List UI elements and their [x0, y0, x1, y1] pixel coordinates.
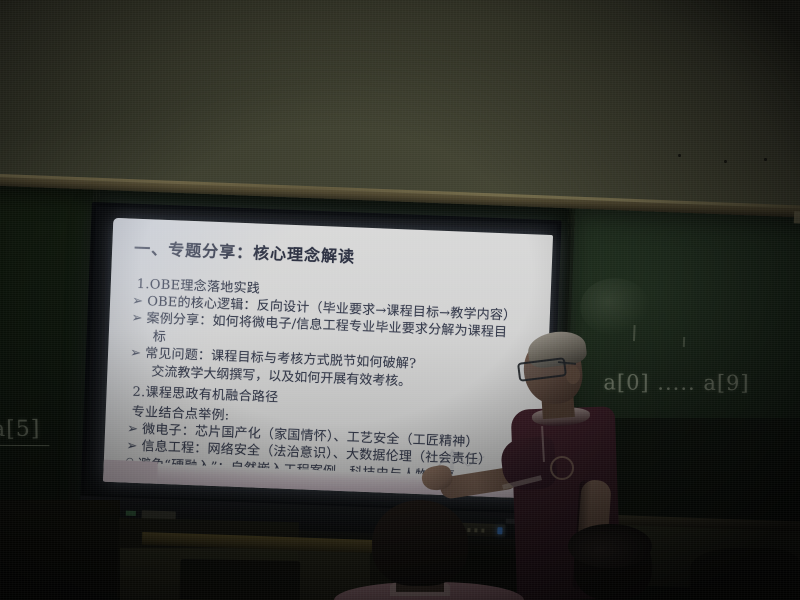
- power-status-led: [126, 511, 136, 516]
- chalk-underline-left: [0, 445, 49, 446]
- arrow-bullet-icon: ➢: [132, 293, 144, 308]
- slide-title: 一、专题分享：核心理念解读: [134, 235, 543, 275]
- presenter-ear: [566, 366, 580, 384]
- audience-member-front: [342, 500, 502, 600]
- arrow-bullet-icon: ➢: [130, 346, 142, 361]
- presenter-shirt-logo: [550, 456, 574, 480]
- audience-hair: [568, 524, 652, 568]
- blackboard-edge-tab: [794, 211, 800, 224]
- classroom-photo: a[5] a[0] ..... a[9] t a[10]={0.1.2.3.4}…: [0, 0, 800, 600]
- audience-member-right: [560, 528, 680, 600]
- chalk-text-left: a[5]: [0, 417, 40, 443]
- arrow-bullet-icon: ➢: [131, 311, 143, 326]
- audience-member-far-right: [690, 548, 800, 600]
- slide-bottom-corner: [103, 460, 158, 484]
- arrow-bullet-icon: ➢: [126, 439, 138, 454]
- wall-specks: [672, 150, 792, 178]
- audience-head: [372, 500, 468, 586]
- left-cabinet: [0, 500, 120, 600]
- arrow-bullet-icon: ➢: [127, 421, 139, 436]
- chair-back: [180, 559, 301, 600]
